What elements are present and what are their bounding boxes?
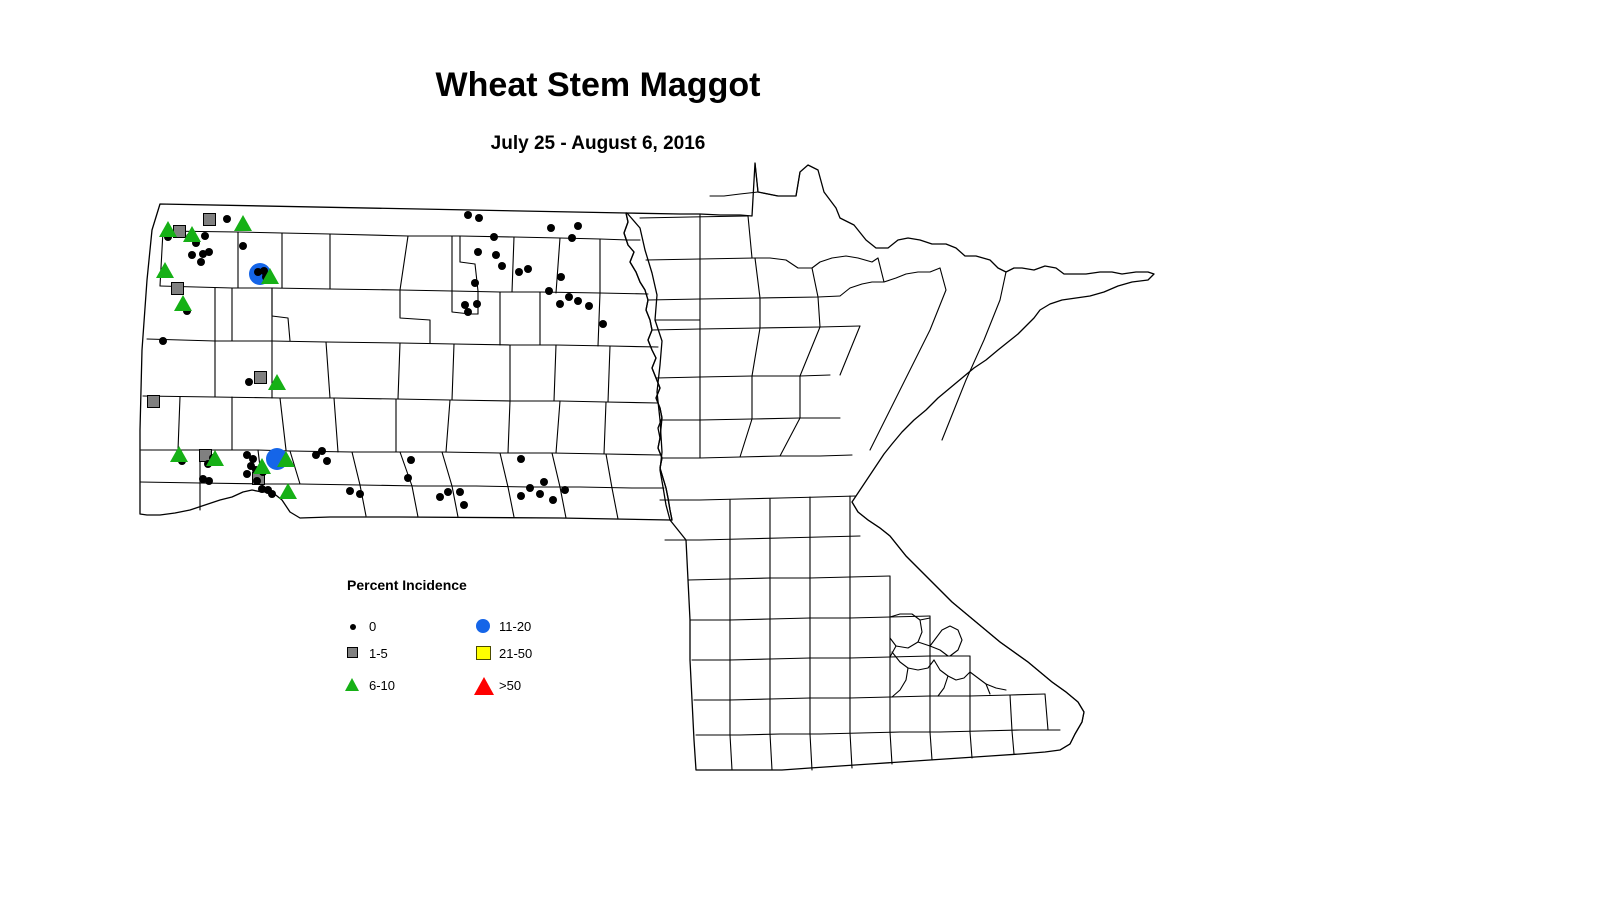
yellow-square-icon bbox=[474, 643, 496, 665]
green-triangle-icon bbox=[344, 675, 366, 697]
blue-circle-glyph bbox=[476, 619, 490, 633]
incidence-marker bbox=[545, 287, 553, 295]
black-dot-glyph bbox=[350, 624, 356, 630]
map-page: Wheat Stem Maggot July 25 - August 6, 20… bbox=[0, 0, 1612, 900]
incidence-marker bbox=[206, 450, 224, 466]
green-triangle-glyph bbox=[345, 678, 359, 691]
incidence-marker bbox=[492, 251, 500, 259]
incidence-marker bbox=[245, 378, 253, 386]
legend: Percent Incidence 01-56-1011-2021-50>50 bbox=[330, 572, 590, 702]
incidence-marker bbox=[243, 470, 251, 478]
incidence-marker bbox=[565, 293, 573, 301]
incidence-marker bbox=[254, 371, 267, 384]
incidence-marker bbox=[561, 486, 569, 494]
north-dakota-outline bbox=[140, 204, 670, 520]
black-dot-icon bbox=[344, 616, 366, 638]
incidence-marker bbox=[524, 265, 532, 273]
blue-circle-icon bbox=[474, 616, 496, 638]
incidence-marker bbox=[585, 302, 593, 310]
incidence-marker bbox=[536, 490, 544, 498]
incidence-marker bbox=[556, 300, 564, 308]
incidence-marker bbox=[574, 222, 582, 230]
incidence-marker bbox=[471, 279, 479, 287]
incidence-marker bbox=[464, 308, 472, 316]
incidence-marker bbox=[205, 248, 213, 256]
incidence-marker bbox=[436, 493, 444, 501]
incidence-marker bbox=[183, 226, 201, 242]
incidence-marker bbox=[407, 456, 415, 464]
incidence-marker bbox=[517, 492, 525, 500]
incidence-marker bbox=[464, 211, 472, 219]
incidence-marker bbox=[557, 273, 565, 281]
incidence-marker bbox=[498, 262, 506, 270]
minnesota-outline bbox=[624, 163, 1154, 770]
incidence-marker bbox=[277, 451, 295, 467]
incidence-marker bbox=[201, 232, 209, 240]
incidence-marker bbox=[197, 258, 205, 266]
legend-item-label: >50 bbox=[499, 678, 521, 693]
incidence-marker bbox=[223, 215, 231, 223]
incidence-marker bbox=[323, 457, 331, 465]
incidence-marker bbox=[474, 248, 482, 256]
legend-item-label: 21-50 bbox=[499, 646, 532, 661]
incidence-marker bbox=[444, 488, 452, 496]
map-canvas bbox=[0, 0, 1612, 900]
incidence-marker bbox=[268, 374, 286, 390]
incidence-marker bbox=[517, 455, 525, 463]
incidence-marker bbox=[239, 242, 247, 250]
incidence-marker bbox=[147, 395, 160, 408]
incidence-marker bbox=[205, 477, 213, 485]
red-triangle-icon bbox=[474, 675, 496, 697]
incidence-marker bbox=[599, 320, 607, 328]
legend-title: Percent Incidence bbox=[347, 577, 467, 593]
incidence-marker bbox=[346, 487, 354, 495]
legend-item-label: 0 bbox=[369, 619, 376, 634]
incidence-marker bbox=[526, 484, 534, 492]
incidence-marker bbox=[490, 233, 498, 241]
incidence-marker bbox=[234, 215, 252, 231]
incidence-marker bbox=[547, 224, 555, 232]
state-county-boundaries bbox=[0, 0, 1612, 900]
incidence-marker bbox=[188, 251, 196, 259]
legend-item-label: 11-20 bbox=[499, 619, 531, 634]
incidence-marker bbox=[540, 478, 548, 486]
legend-item-label: 1-5 bbox=[369, 646, 388, 661]
incidence-marker bbox=[253, 477, 261, 485]
incidence-marker bbox=[456, 488, 464, 496]
gray-square-glyph bbox=[347, 647, 358, 658]
incidence-marker bbox=[253, 458, 271, 474]
incidence-marker bbox=[159, 337, 167, 345]
incidence-marker bbox=[318, 447, 326, 455]
incidence-marker bbox=[460, 501, 468, 509]
incidence-marker bbox=[549, 496, 557, 504]
gray-square-icon bbox=[344, 643, 366, 665]
incidence-marker bbox=[515, 268, 523, 276]
incidence-marker bbox=[261, 268, 279, 284]
incidence-marker bbox=[404, 474, 412, 482]
red-triangle-glyph bbox=[474, 677, 494, 695]
incidence-marker bbox=[356, 490, 364, 498]
incidence-marker bbox=[171, 282, 184, 295]
incidence-marker bbox=[568, 234, 576, 242]
incidence-marker bbox=[156, 262, 174, 278]
incidence-marker bbox=[279, 483, 297, 499]
incidence-marker bbox=[203, 213, 216, 226]
incidence-marker bbox=[174, 295, 192, 311]
incidence-marker bbox=[574, 297, 582, 305]
incidence-marker bbox=[473, 300, 481, 308]
yellow-square-glyph bbox=[476, 646, 491, 660]
incidence-marker bbox=[268, 490, 276, 498]
incidence-marker bbox=[475, 214, 483, 222]
incidence-marker bbox=[159, 221, 177, 237]
legend-item-label: 6-10 bbox=[369, 678, 395, 693]
incidence-marker bbox=[170, 446, 188, 462]
